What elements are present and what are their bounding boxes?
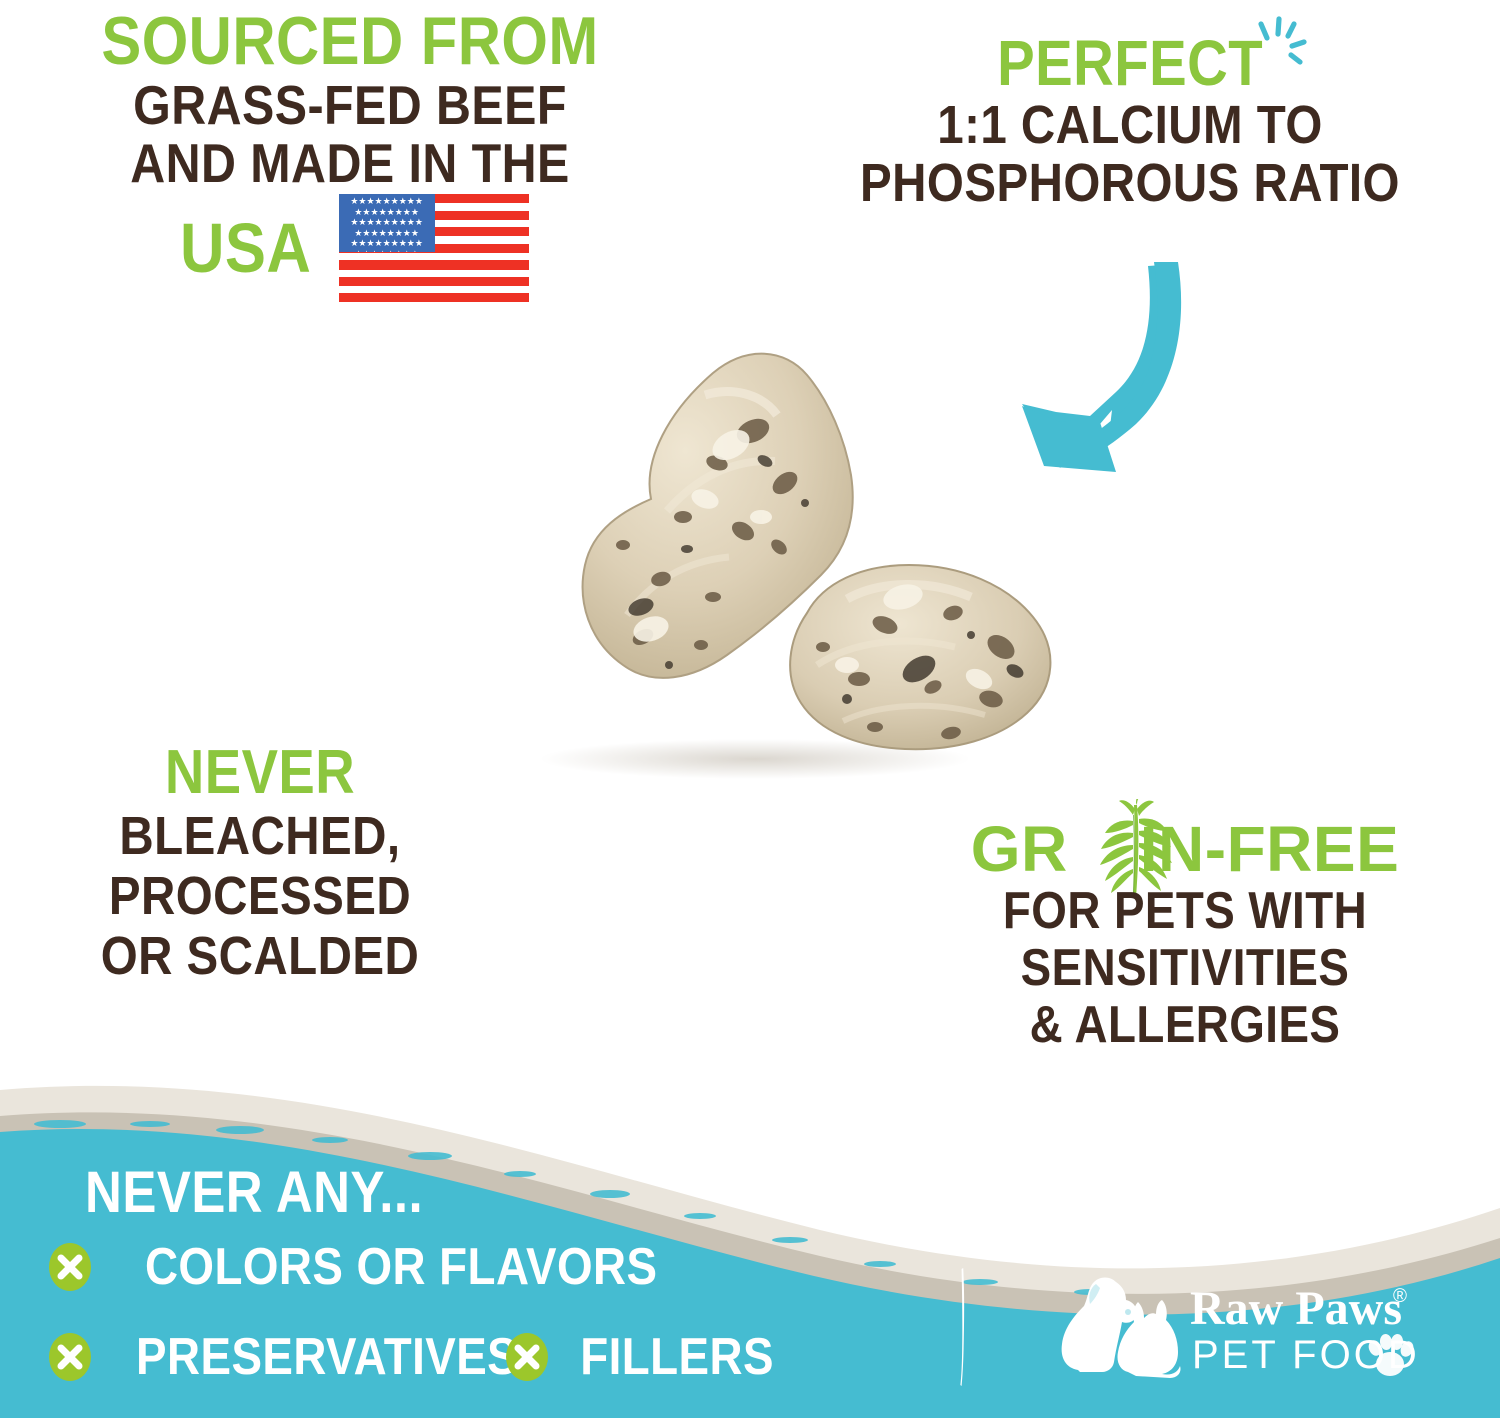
perfect-headline-wrap: PERFECT xyxy=(979,30,1281,96)
x-circle-icon xyxy=(48,1242,92,1292)
banner-item-fillers: FILLERS xyxy=(505,1330,787,1384)
sourced-line-2: GRASS-FED BEEF xyxy=(42,76,658,134)
x-circle-icon xyxy=(505,1332,549,1382)
vertical-brush-divider-icon xyxy=(960,1268,967,1386)
brand-logo: Raw Paws ® PET FOOD xyxy=(1040,1272,1440,1392)
grain-line-4: & ALLERGIES xyxy=(939,997,1432,1054)
banner-item-label: COLORS OR FLAVORS xyxy=(145,1240,658,1294)
banner-heading: NEVER ANY... xyxy=(85,1163,423,1223)
usa-row: USA ★★★★★★★★★ ★★★★★★★★ ★★★★★★★★★ ★★★★★★★… xyxy=(0,194,700,302)
logo-trademark: ® xyxy=(1393,1286,1407,1307)
sparkle-icon xyxy=(1247,12,1307,72)
grain-line-3: SENSITIVITIES xyxy=(939,940,1432,997)
flag-canton: ★★★★★★★★★ ★★★★★★★★ ★★★★★★★★★ ★★★★★★★★ ★★… xyxy=(339,194,435,252)
grain-line-2: FOR PETS WITH xyxy=(939,883,1432,940)
never-line-4: OR SCALDED xyxy=(53,926,467,986)
banner-item-label: PRESERVATIVES xyxy=(136,1330,518,1384)
sourced-line-1: SOURCED FROM xyxy=(42,6,658,76)
sourced-from-block: SOURCED FROM GRASS-FED BEEF AND MADE IN … xyxy=(0,6,700,302)
never-bleached-block: NEVER BLEACHED, PROCESSED OR SCALDED xyxy=(25,740,495,986)
perfect-line-1: PERFECT xyxy=(997,30,1263,96)
sourced-line-4: USA xyxy=(180,211,311,285)
perfect-ratio-block: PERFECT 1:1 CALCIUM TO PHOSPHOROUS RATIO xyxy=(800,30,1460,212)
infographic-page: SOURCED FROM GRASS-FED BEEF AND MADE IN … xyxy=(0,0,1500,1418)
usa-flag-icon: ★★★★★★★★★ ★★★★★★★★ ★★★★★★★★★ ★★★★★★★★ ★★… xyxy=(339,194,529,302)
never-line-3: PROCESSED xyxy=(53,866,467,926)
x-circle-icon xyxy=(48,1332,92,1382)
dog-and-cat-silhouette-icon xyxy=(1062,1278,1181,1379)
product-treats-photo xyxy=(455,335,1115,785)
grain-free-block: GRIN-FREE xyxy=(905,815,1465,1054)
grain-free-headline: GRIN-FREE xyxy=(971,815,1400,883)
never-line-2: BLEACHED, xyxy=(53,806,467,866)
perfect-line-3: PHOSPHOROUS RATIO xyxy=(840,154,1421,212)
sourced-line-3: AND MADE IN THE xyxy=(42,134,658,192)
banner-item-preservatives: PRESERVATIVES xyxy=(48,1330,544,1384)
perfect-line-2: 1:1 CALCIUM TO xyxy=(840,96,1421,154)
banner-item-label: FILLERS xyxy=(580,1330,774,1384)
banner-item-colors-or-flavors: COLORS OR FLAVORS xyxy=(48,1240,692,1294)
never-line-1: NEVER xyxy=(53,740,467,806)
grain-line-part-1: GR xyxy=(971,813,1068,885)
logo-brand-line-1: Raw Paws xyxy=(1190,1282,1402,1335)
